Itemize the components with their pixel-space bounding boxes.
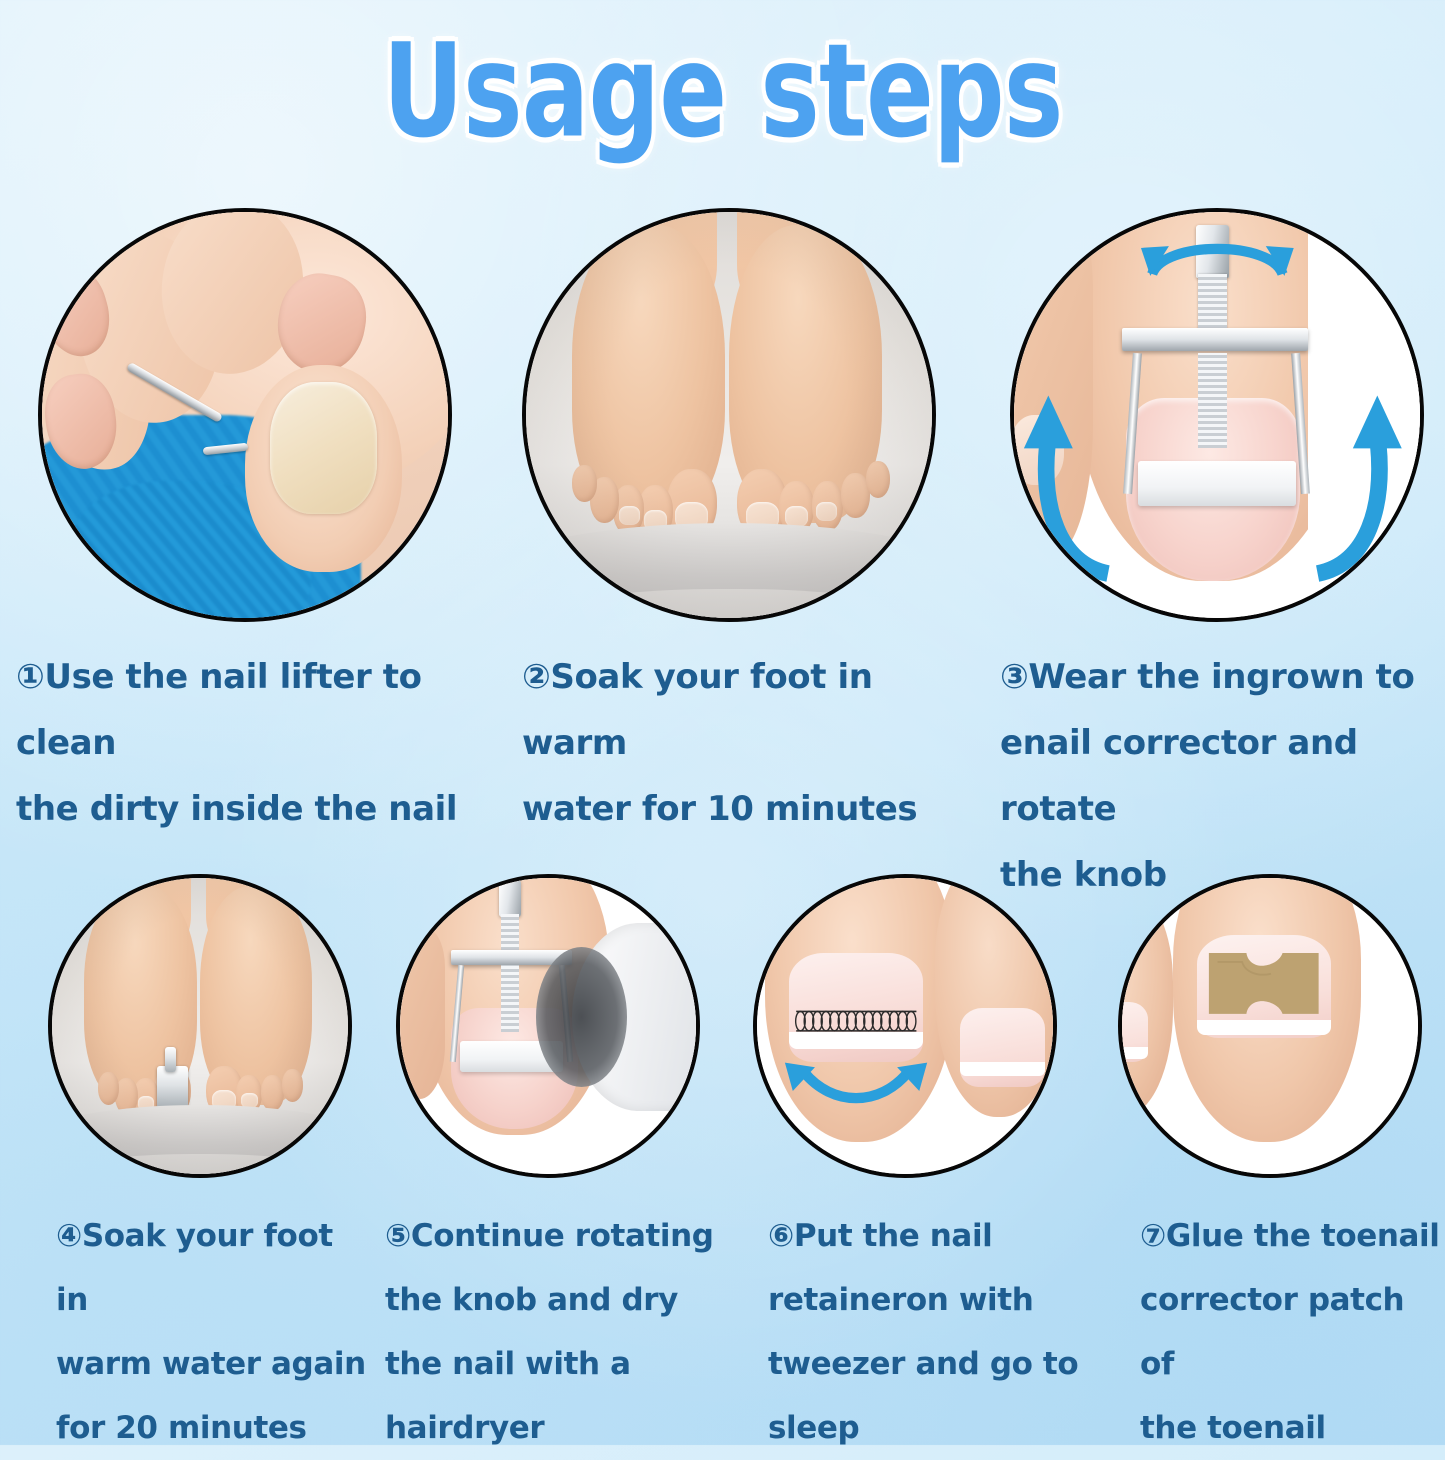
step-3-caption: ③Wear the ingrown to enail corrector and… (1000, 644, 1440, 908)
toenail-patch-photo (1118, 874, 1422, 1178)
step-4-caption: ④Soak your foot in warm water again for … (56, 1204, 366, 1460)
caption-line: enail corrector and rotate (1000, 710, 1440, 842)
title-container: Usage steps (0, 16, 1445, 166)
caption-line: corrector patch of (1140, 1268, 1440, 1396)
step-1-image (38, 208, 452, 622)
nail-clamp-plate (1138, 461, 1295, 507)
screw-thread-lower (501, 965, 519, 1032)
caption-line: ⑦Glue the toenail (1140, 1204, 1440, 1268)
hairdryer-photo (396, 874, 700, 1178)
caption-line: ④Soak your foot in (56, 1204, 366, 1332)
page-title: Usage steps (383, 12, 1063, 171)
corrector-patch (1206, 950, 1322, 1017)
caption-line: the nail with a hairdryer (385, 1332, 755, 1460)
toenail (270, 382, 378, 514)
nail-lifter-photo (38, 208, 452, 622)
caption-line: warm water again (56, 1332, 366, 1396)
step-5-image (396, 874, 700, 1178)
caption-line: ③Wear the ingrown to (1000, 644, 1440, 710)
step-6-caption: ⑥Put the nail retaineron with tweezer an… (768, 1204, 1133, 1460)
cross-bar (1122, 328, 1308, 351)
screw-thread-lower (1198, 353, 1227, 448)
caption-line: ①Use the nail lifter to clean (16, 644, 496, 776)
nail-retainer-coil (793, 1009, 921, 1033)
caption-line: ⑥Put the nail (768, 1204, 1133, 1268)
step-1-caption: ①Use the nail lifter to clean the dirty … (16, 644, 496, 842)
caption-line: ②Soak your foot in warm (522, 644, 972, 776)
nail-retainer-photo (753, 874, 1057, 1178)
rotate-arrows-icon (1118, 220, 1317, 295)
arrow-up-right-icon (1300, 382, 1408, 589)
double-arrow-icon (777, 1056, 935, 1123)
caption-line: for 20 minutes (56, 1396, 366, 1460)
arrow-up-left-icon (1018, 382, 1126, 589)
caption-line: tweezer and go to sleep (768, 1332, 1133, 1460)
nail-lifter-tool (121, 374, 270, 490)
adjacent-toe (396, 929, 445, 1099)
caption-line: ⑤Continue rotating (385, 1204, 755, 1268)
step-4-image (48, 874, 352, 1178)
hairdryer-grille (536, 947, 627, 1087)
nail-free-edge (1197, 1020, 1331, 1035)
step-7-caption: ⑦Glue the toenail corrector patch of the… (1140, 1204, 1440, 1460)
second-nail-free-edge (1118, 1047, 1148, 1059)
step-3-image (1010, 208, 1424, 622)
caption-line: the dirty inside the nail (16, 776, 496, 842)
second-nail-free-edge (960, 1062, 1045, 1076)
step-6-image (753, 874, 1057, 1178)
caption-line: the toenail (1140, 1396, 1440, 1460)
step-7-image (1118, 874, 1422, 1178)
caption-line: retaineron with (768, 1268, 1133, 1332)
feet-soaking-with-device-photo (48, 874, 352, 1178)
knob (499, 880, 520, 916)
caption-line: water for 10 minutes (522, 776, 972, 842)
step-5-caption: ⑤Continue rotating the knob and dry the … (385, 1204, 755, 1460)
caption-line: the knob and dry (385, 1268, 755, 1332)
vignette (522, 208, 936, 622)
step-2-caption: ②Soak your foot in warm water for 10 min… (522, 644, 972, 842)
corrector-rotate-photo (1010, 208, 1424, 622)
caption-line: the knob (1000, 842, 1440, 908)
feet-soaking-photo (522, 208, 936, 622)
nail-free-edge (789, 1032, 923, 1049)
step-2-image (522, 208, 936, 622)
vignette (48, 874, 352, 1178)
